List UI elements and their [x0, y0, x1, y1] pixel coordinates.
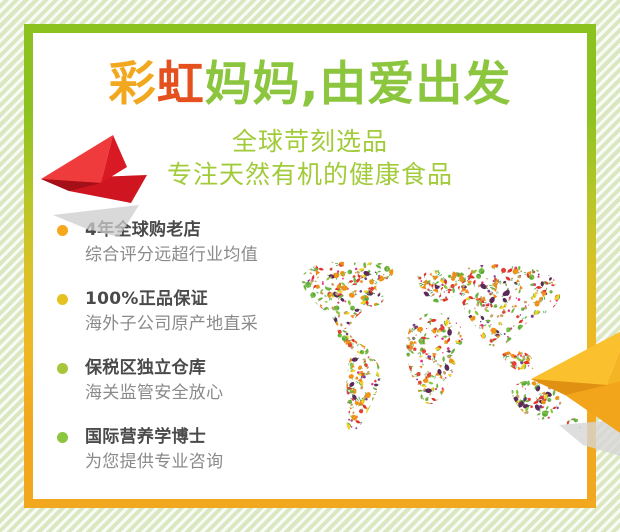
- promotional-banner: 彩虹妈妈,由爱出发 全球苛刻选品 专注天然有机的健康食品 4年全球购老店 综合评…: [0, 0, 620, 532]
- bullet-dot-icon: [57, 294, 68, 305]
- feature-title: 国际营养学博士: [85, 425, 303, 449]
- white-content-panel: 彩虹妈妈,由爱出发 全球苛刻选品 专注天然有机的健康食品 4年全球购老店 综合评…: [33, 33, 587, 499]
- bullet-dot-icon: [57, 432, 68, 443]
- headline-part-1: 彩: [109, 57, 157, 112]
- headline-part-3: 妈妈,由爱出发: [205, 57, 512, 112]
- headline-part-2: 虹: [157, 57, 205, 112]
- feature-description: 海外子公司原产地直采: [85, 311, 303, 337]
- page-title: 彩虹妈妈,由爱出发: [33, 61, 587, 108]
- bullet-dot-icon: [57, 363, 68, 374]
- yellow-paper-airplane: [525, 321, 620, 471]
- gradient-frame-border: 彩虹妈妈,由爱出发 全球苛刻选品 专注天然有机的健康食品 4年全球购老店 综合评…: [24, 24, 596, 508]
- list-item: 100%正品保证 海外子公司原产地直采: [53, 287, 303, 337]
- feature-list: 4年全球购老店 综合评分远超行业均值 100%正品保证 海外子公司原产地直采 保…: [53, 218, 303, 494]
- list-item: 国际营养学博士 为您提供专业咨询: [53, 425, 303, 475]
- feature-title: 保税区独立仓库: [85, 356, 303, 380]
- red-paper-airplane: [35, 133, 157, 243]
- feature-description: 为您提供专业咨询: [85, 449, 303, 475]
- list-item: 保税区独立仓库 海关监管安全放心: [53, 356, 303, 406]
- feature-description: 综合评分远超行业均值: [85, 242, 303, 268]
- feature-description: 海关监管安全放心: [85, 380, 303, 406]
- feature-title: 100%正品保证: [85, 287, 303, 311]
